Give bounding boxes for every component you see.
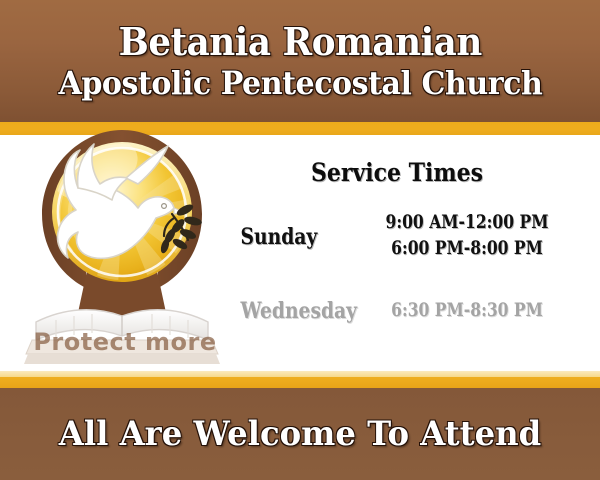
church-name-line-2: Apostolic Pentecostal Church [58,67,542,99]
logo-svg [22,126,222,371]
service-times-panel: Service Times Sunday 9:00 AM-12:00 PM 6:… [232,150,592,350]
service-row-sunday: Sunday 9:00 AM-12:00 PM 6:00 PM-8:00 PM [232,210,592,261]
day-label-wednesday: Wednesday [232,298,341,324]
service-time-sunday-morning: 9:00 AM-12:00 PM [379,210,554,236]
church-service-times-poster: Betania Romanian Apostolic Pentecostal C… [0,0,600,480]
day-label-sunday: Sunday [232,210,341,250]
gold-divider-bottom [0,377,600,388]
service-time-wednesday-evening: 6:30 PM-8:30 PM [379,298,554,324]
service-row-wednesday: Wednesday 6:30 PM-8:30 PM [232,298,592,324]
church-logo: Protect more [22,126,222,371]
header-title-group: Betania Romanian Apostolic Pentecostal C… [0,0,600,122]
time-stack-sunday: 9:00 AM-12:00 PM 6:00 PM-8:00 PM [360,210,592,261]
open-book-shape [24,310,220,364]
service-times-heading: Service Times [252,158,542,187]
footer-welcome-message: All Are Welcome To Attend [15,388,585,480]
time-stack-wednesday: 6:30 PM-8:30 PM [360,298,592,324]
church-name-line-1: Betania Romanian [118,23,481,61]
service-time-sunday-evening: 6:00 PM-8:00 PM [379,236,554,262]
